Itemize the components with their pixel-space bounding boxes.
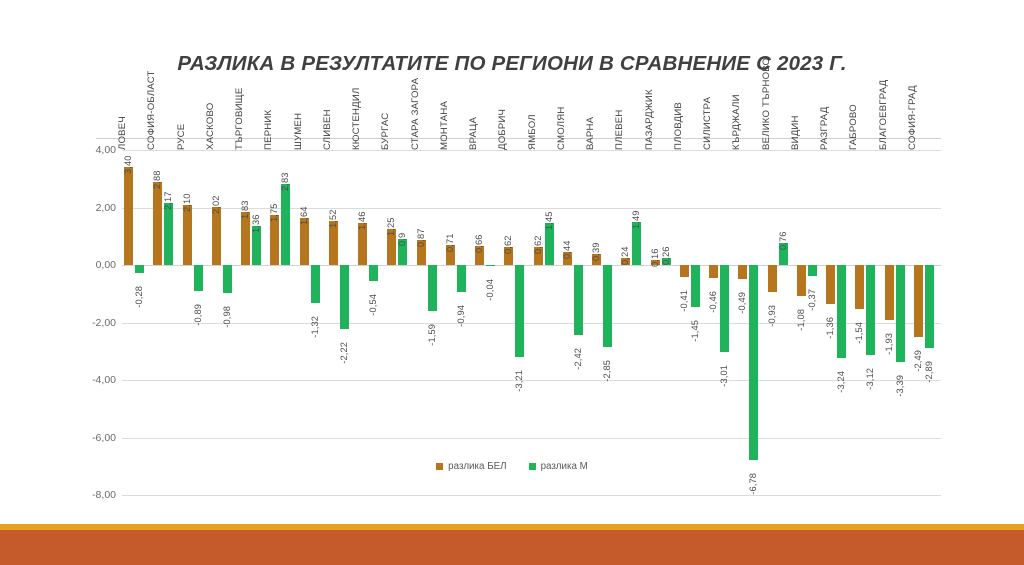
category-label: КЪРДЖАЛИ bbox=[731, 94, 742, 150]
bar-group[interactable]: 0,44-2,42 bbox=[561, 150, 590, 495]
bar-group[interactable]: 2,10-0,89 bbox=[181, 150, 210, 495]
bar-value-label: 0,76 bbox=[778, 232, 788, 251]
bar-value-label: -2,85 bbox=[602, 360, 612, 382]
bar-group[interactable]: 1,64-1,32 bbox=[298, 150, 327, 495]
bar-m[interactable] bbox=[194, 265, 203, 291]
bar-value-label: 1,52 bbox=[328, 210, 338, 229]
category-label: СТАРА ЗАГОРА bbox=[410, 78, 421, 150]
footer-band bbox=[0, 530, 1024, 565]
category-label: ВИДИН bbox=[790, 115, 801, 150]
bar-group[interactable]: -2,49-2,89 bbox=[912, 150, 941, 495]
bar-m[interactable] bbox=[837, 265, 846, 358]
bar-value-label: -1,32 bbox=[310, 316, 320, 338]
bar-value-label: -0,46 bbox=[708, 291, 718, 313]
bar-m[interactable] bbox=[603, 265, 612, 347]
bar-value-label: 1,46 bbox=[357, 212, 367, 231]
bar-value-label: -0,54 bbox=[368, 294, 378, 316]
bar-m[interactable] bbox=[164, 203, 173, 265]
bar-bel[interactable] bbox=[680, 265, 689, 277]
bar-group[interactable]: 1,752,83 bbox=[268, 150, 297, 495]
bar-group[interactable]: 3,40-0,28 bbox=[122, 150, 151, 495]
category-label: СОФИЯ-ОБЛАСТ bbox=[146, 70, 157, 150]
bar-m[interactable] bbox=[311, 265, 320, 303]
bar-m[interactable] bbox=[223, 265, 232, 293]
bar-group[interactable]: 0,241,49 bbox=[619, 150, 648, 495]
bar-bel[interactable] bbox=[212, 207, 221, 265]
bars-layer: 3,40-0,282,882,172,10-0,892,02-0,981,831… bbox=[122, 150, 941, 495]
bar-value-label: 1,75 bbox=[269, 203, 279, 222]
category-label: СЛИВЕН bbox=[322, 109, 333, 150]
bar-value-label: -3,39 bbox=[895, 375, 905, 397]
bar-group[interactable]: -1,93-3,39 bbox=[883, 150, 912, 495]
bar-bel[interactable] bbox=[738, 265, 747, 279]
bar-value-label: -0,93 bbox=[767, 305, 777, 327]
bar-value-label: 0,66 bbox=[474, 235, 484, 254]
bar-m[interactable] bbox=[896, 265, 905, 362]
bar-value-label: -0,04 bbox=[485, 279, 495, 301]
category-label: ВЕЛИКО ТЪРНОВО bbox=[761, 58, 772, 150]
gridline: -8,00 bbox=[122, 495, 941, 496]
bar-value-label: -3,01 bbox=[719, 365, 729, 387]
bar-value-label: 3,40 bbox=[123, 156, 133, 175]
bar-value-label: -1,08 bbox=[796, 309, 806, 331]
bar-group[interactable]: 0,160,26 bbox=[649, 150, 678, 495]
bar-value-label: 0,24 bbox=[620, 247, 630, 266]
category-label: ГАБРОВО bbox=[848, 104, 859, 150]
category-label: МОНТАНА bbox=[439, 101, 450, 150]
category-label: БЛАГОЕВГРАД bbox=[878, 80, 889, 150]
bar-bel[interactable] bbox=[153, 182, 162, 265]
bar-m[interactable] bbox=[515, 265, 524, 357]
bar-group[interactable]: 0,66-0,04 bbox=[473, 150, 502, 495]
bar-m[interactable] bbox=[135, 265, 144, 273]
bar-bel[interactable] bbox=[124, 167, 133, 265]
legend-item[interactable]: разлика М bbox=[529, 461, 588, 472]
bar-value-label: 1,45 bbox=[544, 212, 554, 231]
category-label: ПЕРНИК bbox=[263, 110, 274, 150]
category-label: ВАРНА bbox=[585, 117, 596, 150]
bar-value-label: 0,62 bbox=[503, 236, 513, 255]
bar-value-label: -0,89 bbox=[193, 304, 203, 326]
bar-m[interactable] bbox=[749, 265, 758, 460]
bar-group[interactable]: 1,831,36 bbox=[239, 150, 268, 495]
bar-group[interactable]: -0,930,76 bbox=[766, 150, 795, 495]
bar-value-label: -1,45 bbox=[690, 320, 700, 342]
bar-group[interactable]: 0,62-3,21 bbox=[502, 150, 531, 495]
bar-m[interactable] bbox=[486, 265, 495, 266]
legend-label: разлика М bbox=[541, 461, 588, 472]
bar-value-label: -2,89 bbox=[924, 361, 934, 383]
bar-m[interactable] bbox=[691, 265, 700, 307]
bar-bel[interactable] bbox=[241, 212, 250, 265]
bar-group[interactable]: 2,882,17 bbox=[151, 150, 180, 495]
bar-value-label: -0,94 bbox=[456, 305, 466, 327]
bar-value-label: 1,83 bbox=[240, 201, 250, 220]
category-label: РАЗГРАД bbox=[819, 107, 830, 150]
bar-value-label: 2,17 bbox=[163, 191, 173, 210]
bar-value-label: -2,49 bbox=[913, 350, 923, 372]
bar-group[interactable]: 1,52-2,22 bbox=[327, 150, 356, 495]
bar-group[interactable]: -1,08-0,37 bbox=[795, 150, 824, 495]
bar-value-label: 1,36 bbox=[251, 214, 261, 233]
legend-item[interactable]: разлика БЕЛ bbox=[436, 461, 506, 472]
bar-m[interactable] bbox=[369, 265, 378, 281]
bar-value-label: -3,12 bbox=[865, 368, 875, 390]
bar-group[interactable]: 1,250,9 bbox=[385, 150, 414, 495]
category-label: СИЛИСТРА bbox=[702, 97, 713, 150]
bar-value-label: 2,10 bbox=[182, 193, 192, 212]
category-label: КЮСТЕНДИЛ bbox=[351, 88, 362, 150]
bar-value-label: -0,41 bbox=[679, 290, 689, 312]
bar-group[interactable]: 0,71-0,94 bbox=[444, 150, 473, 495]
bar-m[interactable] bbox=[428, 265, 437, 311]
category-label: ТЪРГОВИЩЕ bbox=[234, 88, 245, 150]
category-label: ПАЗАРДЖИК bbox=[644, 89, 655, 150]
bar-bel[interactable] bbox=[885, 265, 894, 320]
category-label: ПЛЕВЕН bbox=[614, 109, 625, 150]
bar-value-label: 0,39 bbox=[591, 242, 601, 261]
bar-group[interactable]: -1,36-3,24 bbox=[824, 150, 853, 495]
bar-value-label: 0,62 bbox=[533, 236, 543, 255]
bar-bel[interactable] bbox=[183, 205, 192, 265]
legend-swatch bbox=[436, 463, 443, 470]
y-axis-tick-label: -4,00 bbox=[92, 374, 116, 386]
bar-value-label: 0,9 bbox=[397, 233, 407, 246]
chart-plot-area: 4,002,000,00-2,00-4,00-6,00-8,00 3,40-0,… bbox=[96, 150, 941, 495]
category-label: БУРГАС bbox=[380, 113, 391, 150]
bar-value-label: 2,88 bbox=[152, 171, 162, 190]
bar-group[interactable]: -1,54-3,12 bbox=[853, 150, 882, 495]
bar-value-label: 0,26 bbox=[661, 246, 671, 265]
bar-group[interactable]: 2,02-0,98 bbox=[210, 150, 239, 495]
bar-bel[interactable] bbox=[914, 265, 923, 337]
y-axis-tick-label: 4,00 bbox=[96, 144, 116, 156]
bar-value-label: 0,44 bbox=[562, 241, 572, 260]
y-axis-tick-label: 0,00 bbox=[96, 259, 116, 271]
bar-m[interactable] bbox=[866, 265, 875, 355]
bar-value-label: -1,36 bbox=[825, 317, 835, 339]
category-label: ВРАЦА bbox=[468, 117, 479, 150]
category-label: ЛОВЕЧ bbox=[117, 116, 128, 150]
bar-bel[interactable] bbox=[797, 265, 806, 296]
y-axis-tick-label: -2,00 bbox=[92, 317, 116, 329]
chart-legend: разлика БЕЛразлика М bbox=[0, 461, 1024, 472]
bar-m[interactable] bbox=[574, 265, 583, 335]
bar-m[interactable] bbox=[808, 265, 817, 276]
bar-value-label: 2,83 bbox=[280, 172, 290, 191]
legend-label: разлика БЕЛ bbox=[448, 461, 506, 472]
category-label: ШУМЕН bbox=[293, 113, 304, 150]
bar-group[interactable]: -0,46-3,01 bbox=[707, 150, 736, 495]
bar-m[interactable] bbox=[720, 265, 729, 352]
bar-m[interactable] bbox=[925, 265, 934, 348]
bar-value-label: -3,21 bbox=[514, 370, 524, 392]
bar-group[interactable]: 0,621,45 bbox=[532, 150, 561, 495]
legend-swatch bbox=[529, 463, 536, 470]
bar-value-label: -0,37 bbox=[807, 289, 817, 311]
bar-group[interactable]: 1,46-0,54 bbox=[356, 150, 385, 495]
bar-group[interactable]: -0,41-1,45 bbox=[678, 150, 707, 495]
y-axis-tick-label: -8,00 bbox=[92, 489, 116, 501]
bar-value-label: -1,59 bbox=[427, 324, 437, 346]
bar-value-label: 0,87 bbox=[416, 228, 426, 247]
bar-group[interactable]: 0,39-2,85 bbox=[590, 150, 619, 495]
bar-value-label: -0,49 bbox=[737, 292, 747, 314]
bar-value-label: -0,98 bbox=[222, 306, 232, 328]
bar-value-label: 0,16 bbox=[650, 249, 660, 268]
bar-bel[interactable] bbox=[826, 265, 835, 304]
bar-value-label: -2,42 bbox=[573, 348, 583, 370]
category-label: РУСЕ bbox=[176, 124, 187, 150]
bar-bel[interactable] bbox=[709, 265, 718, 278]
bar-value-label: 1,25 bbox=[386, 218, 396, 237]
bar-value-label: -1,54 bbox=[854, 322, 864, 344]
y-axis-tick-label: -6,00 bbox=[92, 432, 116, 444]
category-label: ПЛОВДИВ bbox=[673, 102, 684, 150]
bar-value-label: 1,64 bbox=[299, 206, 309, 225]
bar-value-label: 1,49 bbox=[631, 211, 641, 230]
y-axis-tick-label: 2,00 bbox=[96, 202, 116, 214]
bar-m[interactable] bbox=[340, 265, 349, 329]
bar-bel[interactable] bbox=[768, 265, 777, 292]
bar-value-label: -3,24 bbox=[836, 371, 846, 393]
header-divider bbox=[96, 138, 941, 139]
bar-value-label: -2,22 bbox=[339, 342, 349, 364]
bar-value-label: -6,78 bbox=[748, 473, 758, 495]
bar-group[interactable]: 0,87-1,59 bbox=[415, 150, 444, 495]
category-label: СМОЛЯН bbox=[556, 106, 567, 150]
bar-value-label: 2,02 bbox=[211, 195, 221, 214]
bar-m[interactable] bbox=[281, 184, 290, 265]
category-label: ДОБРИЧ bbox=[497, 109, 508, 150]
bar-group[interactable]: -0,49-6,78 bbox=[736, 150, 765, 495]
category-label: СОФИЯ-ГРАД bbox=[907, 85, 918, 150]
bar-value-label: 0,71 bbox=[445, 233, 455, 252]
category-label: ХАСКОВО bbox=[205, 103, 216, 150]
bar-bel[interactable] bbox=[855, 265, 864, 309]
bar-bel[interactable] bbox=[270, 215, 279, 265]
bar-value-label: -1,93 bbox=[884, 333, 894, 355]
bar-value-label: -0,28 bbox=[134, 286, 144, 308]
category-label: ЯМБОЛ bbox=[527, 114, 538, 150]
bar-m[interactable] bbox=[457, 265, 466, 292]
